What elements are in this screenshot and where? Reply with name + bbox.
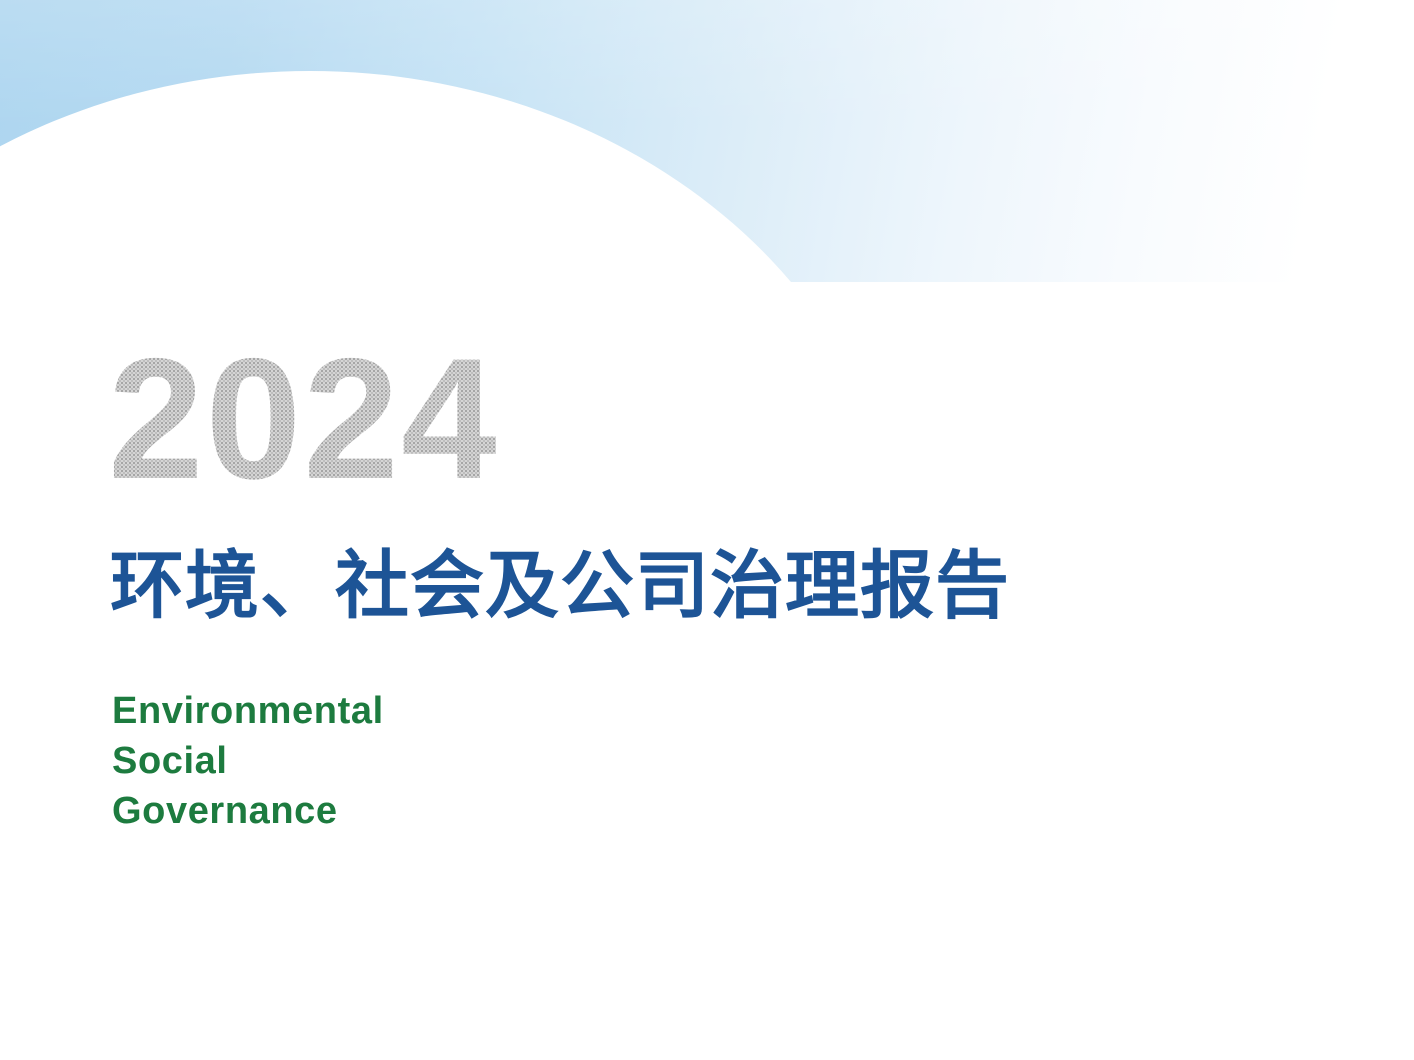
year-text: 2024	[108, 337, 499, 502]
report-title-chinese: 环境、社会及公司治理报告	[110, 538, 1010, 634]
white-circle-shape	[0, 71, 908, 282]
report-title-english: Environmental Social Governance	[112, 686, 384, 836]
year-halftone: 2024 2024	[108, 337, 748, 502]
top-gradient-band	[0, 0, 1414, 282]
title-english-line-1: Environmental	[112, 686, 384, 736]
title-english-line-2: Social	[112, 736, 384, 786]
esg-report-cover: 2024 2024 环境、社会及公司治理报告 Environmental Soc…	[0, 0, 1414, 1060]
title-english-line-3: Governance	[112, 786, 384, 836]
